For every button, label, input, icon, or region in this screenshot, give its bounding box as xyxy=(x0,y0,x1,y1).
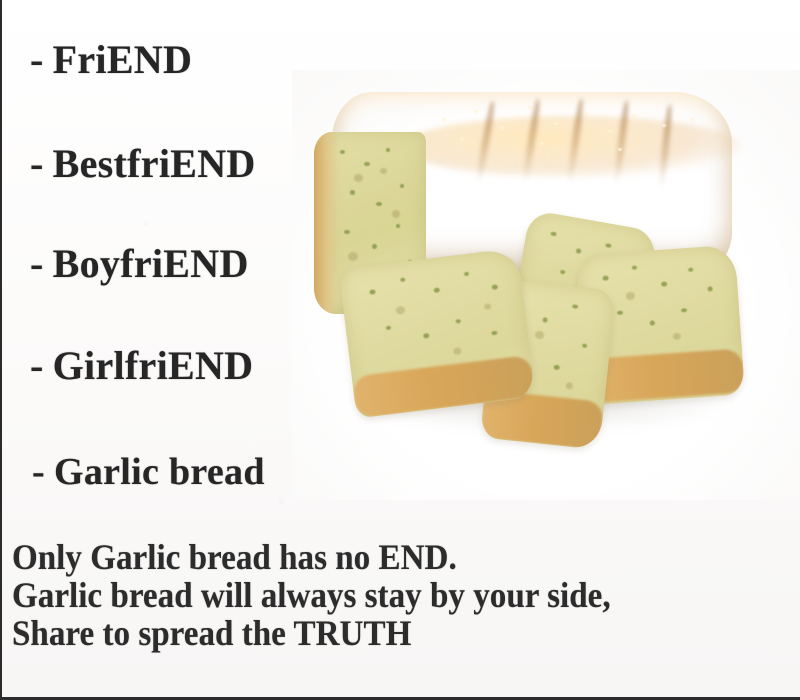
list-bullet-dash: - xyxy=(30,36,44,83)
list-item: -FriEND xyxy=(30,36,192,83)
list-item-label: FriEND xyxy=(53,37,193,82)
caption-line: Only Garlic bread has no END. xyxy=(12,538,730,576)
list-bullet-dash: - xyxy=(30,140,44,187)
caption-line: Garlic bread will always stay by your si… xyxy=(12,576,730,614)
list-item-label: BoyfriEND xyxy=(53,241,249,286)
loaf-face-crust-edge xyxy=(314,132,340,314)
list-item: -BoyfriEND xyxy=(30,240,249,287)
list-item-label: GirlfriEND xyxy=(53,343,254,388)
list-bullet-dash: - xyxy=(32,450,45,494)
caption-block: Only Garlic bread has no END. Garlic bre… xyxy=(12,538,792,652)
caption-line: Share to spread the TRUTH xyxy=(12,614,730,652)
list-bullet-dash: - xyxy=(30,240,44,287)
list-bullet-dash: - xyxy=(30,342,44,389)
list-item-label: BestfriEND xyxy=(53,141,256,186)
list-item-label: Garlic bread xyxy=(54,451,265,493)
list-item: -Garlic bread xyxy=(32,450,265,494)
bread-slice xyxy=(339,248,536,419)
list-item: -GirlfriEND xyxy=(30,342,253,389)
list-item: -BestfriEND xyxy=(30,140,256,187)
meme-image: -FriEND -BestfriEND -BoyfriEND -GirlfriE… xyxy=(0,0,800,700)
garlic-bread-photo xyxy=(292,70,800,500)
